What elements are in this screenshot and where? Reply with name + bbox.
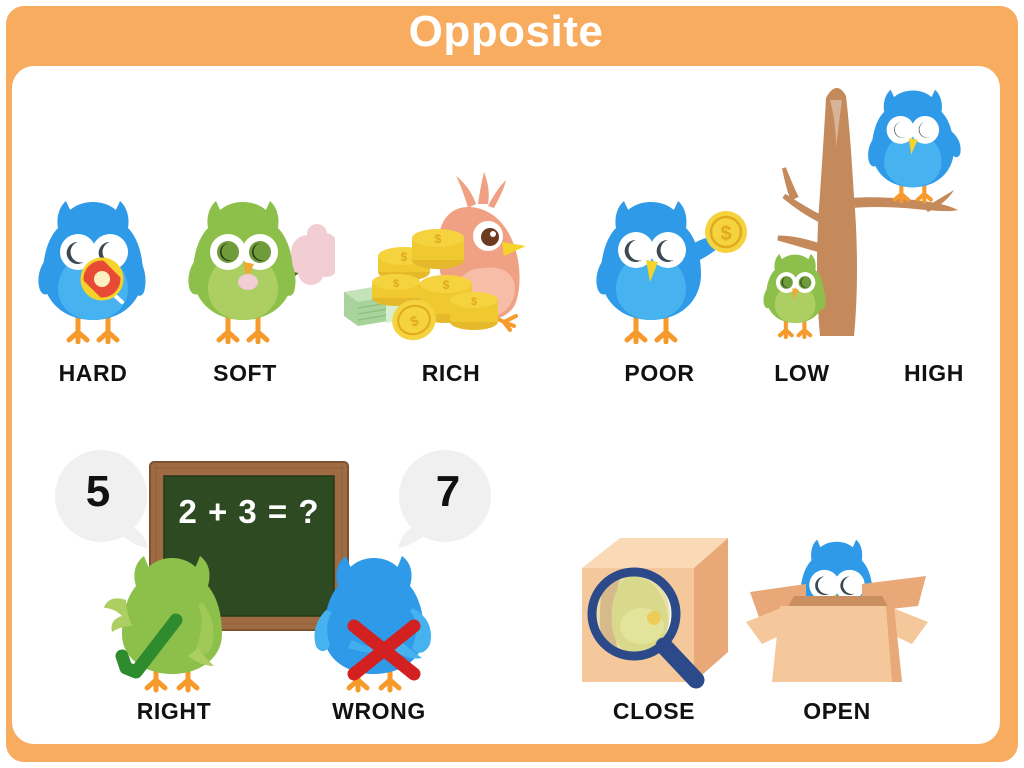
label-open: OPEN — [754, 698, 920, 725]
label-low: LOW — [754, 360, 850, 387]
speech-bubble-right-value: 7 — [396, 470, 500, 514]
illustration-open — [742, 522, 932, 694]
illustration-hard — [34, 194, 152, 344]
label-close: CLOSE — [572, 698, 736, 725]
svg-text:$: $ — [435, 232, 442, 246]
speech-bubble-left: 5 — [52, 448, 156, 552]
svg-text:$: $ — [471, 296, 477, 308]
worksheet-page: Opposite — [0, 0, 1024, 768]
label-high: HIGH — [884, 360, 984, 387]
illustration-rich: $ $ $ — [342, 164, 562, 344]
content-card: HARD — [12, 66, 1000, 744]
illustration-right — [104, 552, 244, 694]
svg-text:$: $ — [720, 223, 731, 245]
illustration-low-high — [754, 74, 986, 344]
label-hard: HARD — [34, 360, 152, 387]
label-soft: SOFT — [180, 360, 310, 387]
label-poor: POOR — [582, 360, 737, 387]
label-wrong: WRONG — [292, 698, 466, 725]
label-rich: RICH — [386, 360, 516, 387]
illustration-poor: $ — [582, 194, 750, 344]
speech-bubble-left-value: 5 — [46, 470, 150, 514]
illustration-close — [572, 522, 736, 694]
illustration-wrong — [308, 552, 450, 694]
illustration-soft — [180, 194, 335, 344]
speech-bubble-right: 7 — [390, 448, 494, 552]
svg-text:$: $ — [393, 278, 399, 290]
svg-text:$: $ — [443, 278, 450, 292]
svg-text:$: $ — [401, 250, 408, 264]
label-right: RIGHT — [94, 698, 254, 725]
page-title: Opposite — [0, 4, 1012, 60]
